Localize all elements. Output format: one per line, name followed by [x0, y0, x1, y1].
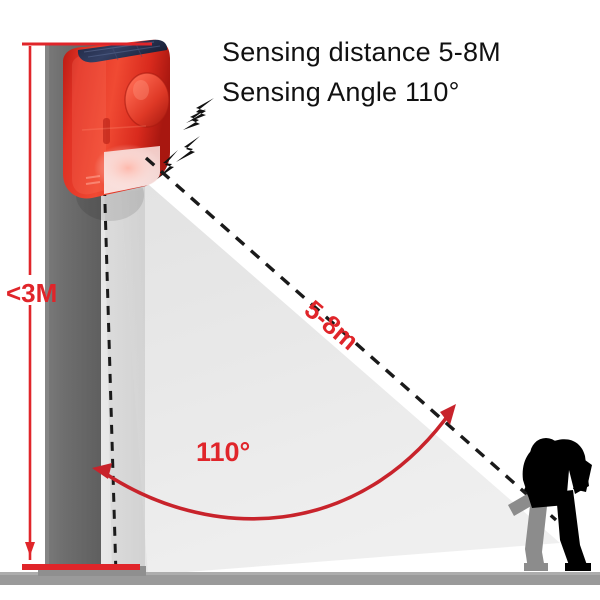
diagram-canvas: Sensing distance 5-8M Sensing Angle 110°… [0, 0, 600, 600]
spec-line-sensing-distance: Sensing distance 5-8M [222, 34, 501, 70]
detection-cone [104, 158, 560, 578]
spec-line-sensing-angle: Sensing Angle 110° [222, 74, 460, 110]
mount-height-label: <3M [6, 278, 57, 309]
walking-person [508, 438, 592, 571]
detection-angle-label: 110° [196, 437, 250, 468]
